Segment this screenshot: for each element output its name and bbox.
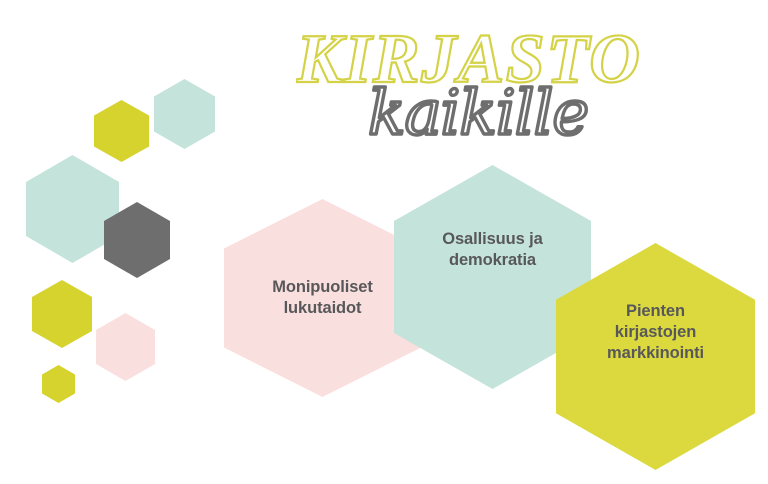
- poster-title-primary: KIRJASTO: [296, 22, 696, 98]
- decorative-hexagon-yellow-tiny: [42, 365, 75, 403]
- poster-title-secondary-text: kaikille: [368, 78, 588, 149]
- decorative-hexagon-yellow-upper: [94, 100, 149, 162]
- decorative-hexagon-yellow-mid: [32, 280, 92, 348]
- poster-title-primary-text: KIRJASTO: [296, 22, 641, 98]
- decorative-hexagon-pink: [96, 313, 155, 381]
- poster-title-secondary: kaikille: [368, 78, 628, 150]
- topic-hexagon-literacy: [224, 199, 421, 397]
- poster-canvas: Monipuoliset lukutaidot Osallisuus ja de…: [0, 0, 768, 484]
- decorative-hexagon-teal-small: [154, 79, 215, 149]
